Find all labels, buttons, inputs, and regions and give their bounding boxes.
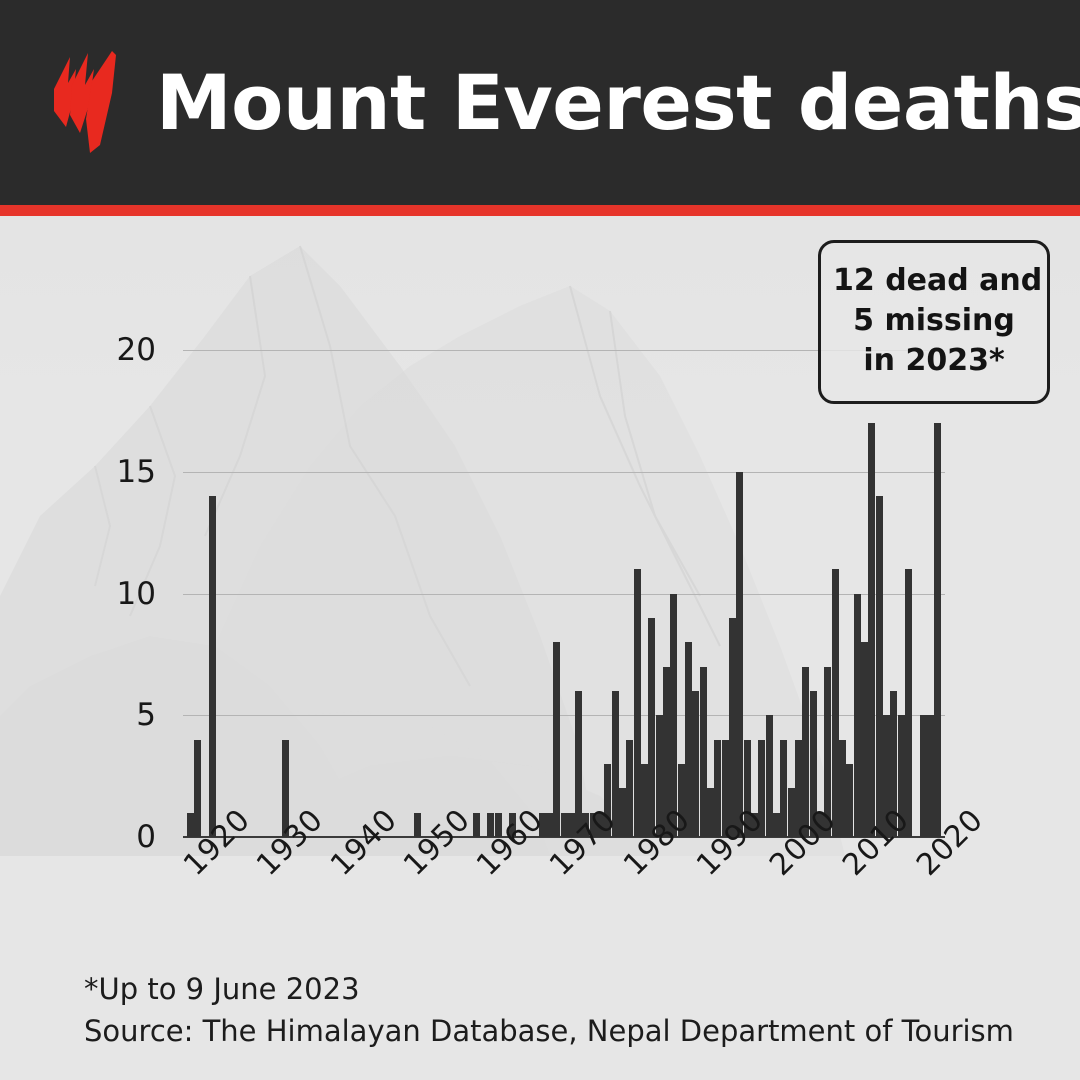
bar-1922: [194, 740, 201, 837]
bar-1995: [729, 618, 736, 837]
footnote-date: *Up to 9 June 2023: [84, 968, 1044, 1010]
plot-area: [183, 340, 945, 837]
bar-2023: [934, 423, 941, 837]
bar-1981: [626, 740, 633, 837]
bar-2019: [905, 569, 912, 837]
callout-line-3: in 2023*: [833, 341, 1035, 381]
y-tick-10: 10: [117, 576, 156, 612]
bar-2010: [839, 740, 846, 837]
bar-1992: [707, 788, 714, 837]
bar-2012: [854, 594, 861, 837]
bar-1987: [670, 594, 677, 837]
bar-1989: [685, 642, 692, 837]
bar-2009: [832, 569, 839, 837]
x-axis-labels: 1920193019401950196019701980199020002010…: [183, 842, 945, 962]
bar-2014: [868, 423, 875, 837]
bar-2011: [846, 764, 853, 837]
header-bar: Mount Everest deaths: [0, 0, 1080, 205]
callout-line-2: 5 missing: [833, 301, 1035, 341]
infographic-page: Mount Everest deaths 0 5: [0, 0, 1080, 1080]
bar-1974: [575, 691, 582, 837]
bar-1996: [736, 472, 743, 837]
footnote-source: Source: The Himalayan Database, Nepal De…: [84, 1010, 1044, 1052]
footer: *Up to 9 June 2023 Source: The Himalayan…: [84, 968, 1044, 1052]
y-tick-5: 5: [136, 697, 156, 733]
bar-2000: [766, 715, 773, 837]
y-tick-15: 15: [117, 454, 156, 490]
bar-1982: [634, 569, 641, 837]
bar-1971: [553, 642, 560, 837]
callout-line-1: 12 dead and: [833, 261, 1035, 301]
bar-1990: [692, 691, 699, 837]
bar-1979: [612, 691, 619, 837]
bar-1924: [209, 496, 216, 837]
bar-1991: [700, 667, 707, 837]
bar-2022: [927, 715, 934, 837]
bar-2021: [920, 715, 927, 837]
y-tick-0: 0: [136, 819, 156, 855]
bar-1993: [714, 740, 721, 837]
bar-2001: [773, 813, 780, 837]
y-axis-labels: 0 5 10 15 20: [0, 216, 183, 856]
callout-box: 12 dead and 5 missing in 2023*: [818, 240, 1050, 404]
sbs-flame-logo-icon: [42, 49, 134, 157]
header-red-rule: [0, 205, 1080, 216]
bar-2002: [780, 740, 787, 837]
y-tick-20: 20: [117, 332, 156, 368]
bar-2015: [876, 496, 883, 837]
bar-2013: [861, 642, 868, 837]
bar-1984: [648, 618, 655, 837]
bar-1921: [187, 813, 194, 837]
gridline-15: [183, 472, 945, 473]
page-title: Mount Everest deaths: [156, 65, 1080, 141]
